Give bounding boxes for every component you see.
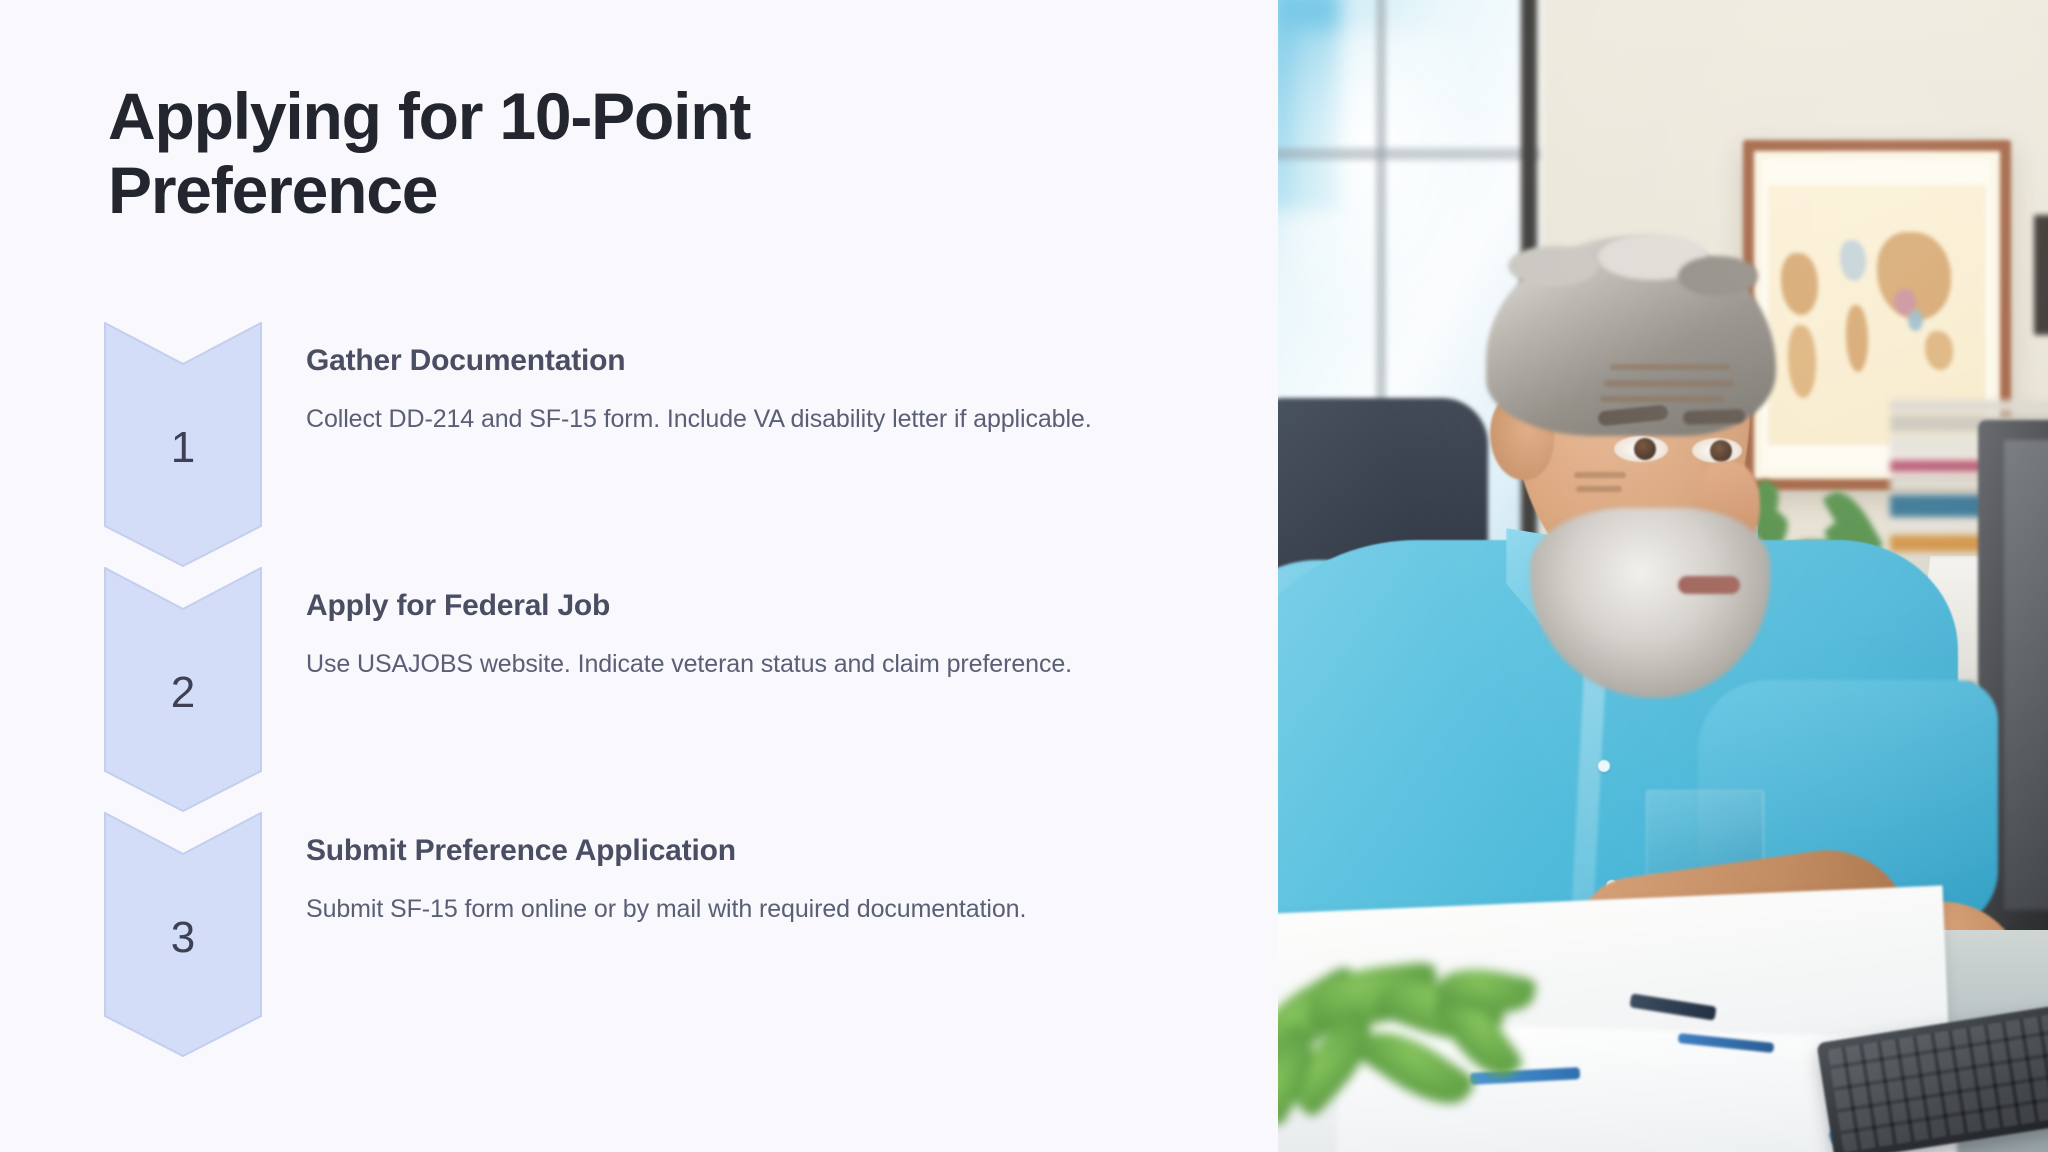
- iris: [1634, 438, 1656, 460]
- forehead-wrinkle: [1610, 364, 1730, 370]
- step-item: 2 Apply for Federal Job Use USAJOBS webs…: [104, 567, 1204, 812]
- slide-root: Applying for 10-Point Preference 1 Gathe…: [0, 0, 2048, 1152]
- step-description: Collect DD-214 and SF-15 form. Include V…: [306, 400, 1176, 439]
- hair-wisp: [1678, 256, 1758, 296]
- step-description: Submit SF-15 form online or by mail with…: [306, 890, 1176, 929]
- step-description: Use USAJOBS website. Indicate veteran st…: [306, 645, 1176, 684]
- step-item: 1 Gather Documentation Collect DD-214 an…: [104, 322, 1204, 567]
- step-marker-chevron: 2: [104, 567, 262, 812]
- eye-left: [1614, 436, 1668, 462]
- step-body: Apply for Federal Job Use USAJOBS websit…: [306, 589, 1176, 684]
- mouth: [1678, 576, 1740, 594]
- foreground-plant: [1278, 960, 1568, 1152]
- photo-panel: [1278, 0, 2048, 1152]
- step-number: 2: [104, 567, 262, 812]
- step-title: Submit Preference Application: [306, 834, 1176, 868]
- step-marker-chevron: 3: [104, 812, 262, 1057]
- forehead-wrinkle: [1600, 396, 1724, 402]
- steps-list: 1 Gather Documentation Collect DD-214 an…: [104, 322, 1204, 1057]
- head: [1478, 240, 1778, 610]
- step-title: Apply for Federal Job: [306, 589, 1176, 623]
- eye-right: [1692, 438, 1742, 463]
- forehead-wrinkle: [1604, 380, 1734, 387]
- step-number: 3: [104, 812, 262, 1057]
- eye-wrinkle: [1576, 486, 1622, 492]
- page-title: Applying for 10-Point Preference: [108, 80, 968, 228]
- step-marker-chevron: 1: [104, 322, 262, 567]
- iris: [1710, 440, 1732, 462]
- content-panel: Applying for 10-Point Preference 1 Gathe…: [0, 0, 1278, 1152]
- step-body: Submit Preference Application Submit SF-…: [306, 834, 1176, 929]
- step-title: Gather Documentation: [306, 344, 1176, 378]
- step-number: 1: [104, 322, 262, 567]
- shirt-button: [1598, 760, 1610, 772]
- office-worker-photo: [1278, 0, 2048, 1152]
- hair-wisp: [1508, 246, 1598, 286]
- eye-wrinkle: [1574, 472, 1626, 478]
- step-item: 3 Submit Preference Application Submit S…: [104, 812, 1204, 1057]
- step-body: Gather Documentation Collect DD-214 and …: [306, 344, 1176, 439]
- eyebrow-right: [1683, 409, 1745, 425]
